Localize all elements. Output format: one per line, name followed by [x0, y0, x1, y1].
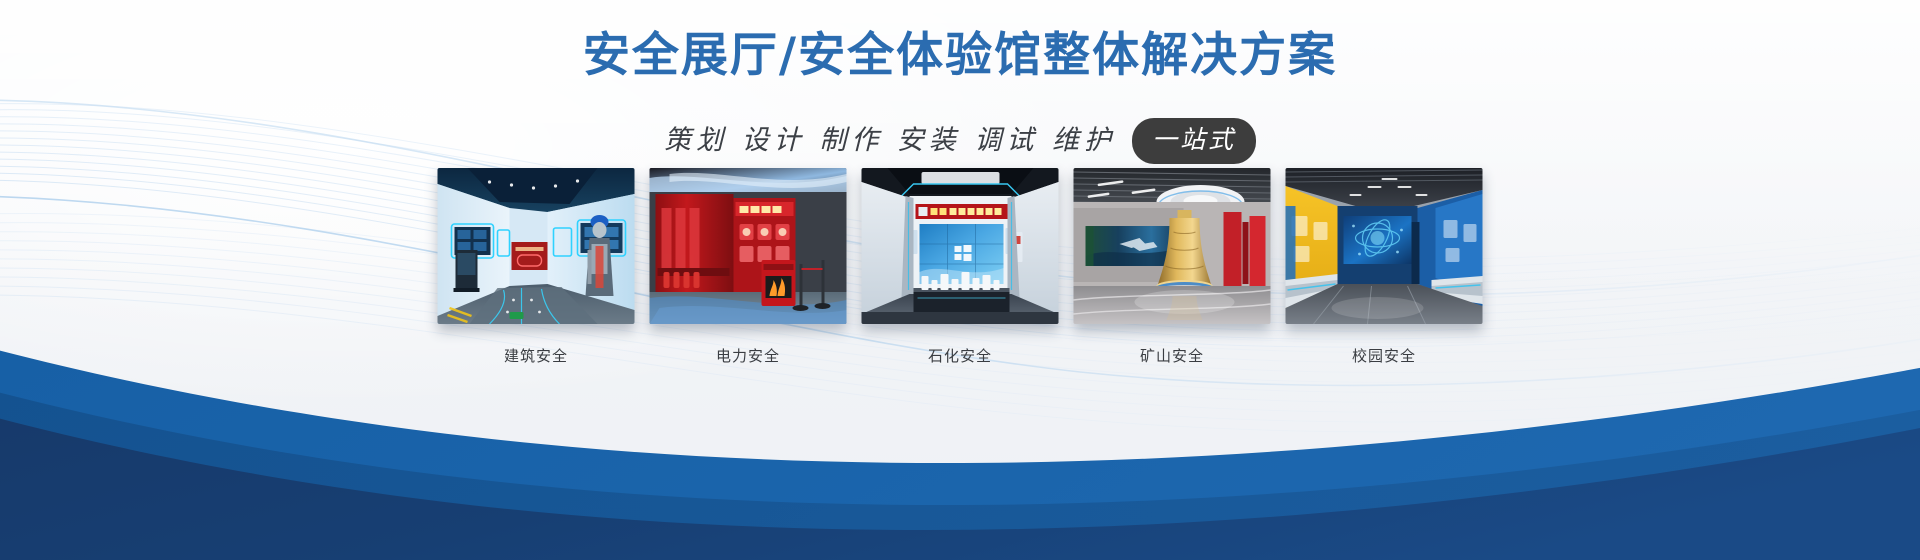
- page-title: 安全展厅/安全体验馆整体解决方案: [0, 26, 1920, 86]
- case-thumbnail-campus[interactable]: [1286, 168, 1483, 324]
- promo-banner: 安全展厅/安全体验馆整体解决方案 策划 设计 制作 安装 调试 维护 一站式: [0, 0, 1920, 560]
- one-stop-badge: 一站式: [1132, 118, 1256, 164]
- mining-safety-hall-image: [1074, 168, 1271, 324]
- banner-content: 安全展厅/安全体验馆整体解决方案 策划 设计 制作 安装 调试 维护 一站式: [0, 0, 1920, 560]
- case-caption: 石化安全: [862, 345, 1059, 366]
- case-caption: 电力安全: [650, 345, 847, 366]
- case-caption: 建筑安全: [438, 345, 635, 366]
- case-card-list: 建筑安全: [438, 168, 1483, 366]
- case-thumbnail-electric-power[interactable]: [650, 168, 847, 324]
- service-steps-text: 策划 设计 制作 安装 调试 维护: [664, 119, 1116, 163]
- case-thumbnail-mining[interactable]: [1074, 168, 1271, 324]
- case-card[interactable]: 电力安全: [650, 168, 847, 366]
- case-card[interactable]: 矿山安全: [1074, 168, 1271, 366]
- petrochemical-safety-base-image: [862, 168, 1059, 324]
- case-card[interactable]: 校园安全: [1286, 168, 1483, 366]
- case-caption: 校园安全: [1286, 345, 1483, 366]
- campus-safety-hall-image: [1286, 168, 1483, 324]
- electric-power-safety-hall-image: [650, 168, 847, 324]
- case-card[interactable]: 建筑安全: [438, 168, 635, 366]
- case-card[interactable]: 石化安全: [862, 168, 1059, 366]
- case-thumbnail-petrochemical[interactable]: [862, 168, 1059, 324]
- case-caption: 矿山安全: [1074, 345, 1271, 366]
- subtitle-row: 策划 设计 制作 安装 调试 维护 一站式: [0, 118, 1920, 164]
- case-thumbnail-construction[interactable]: [438, 168, 635, 324]
- construction-safety-hall-image: [438, 168, 635, 324]
